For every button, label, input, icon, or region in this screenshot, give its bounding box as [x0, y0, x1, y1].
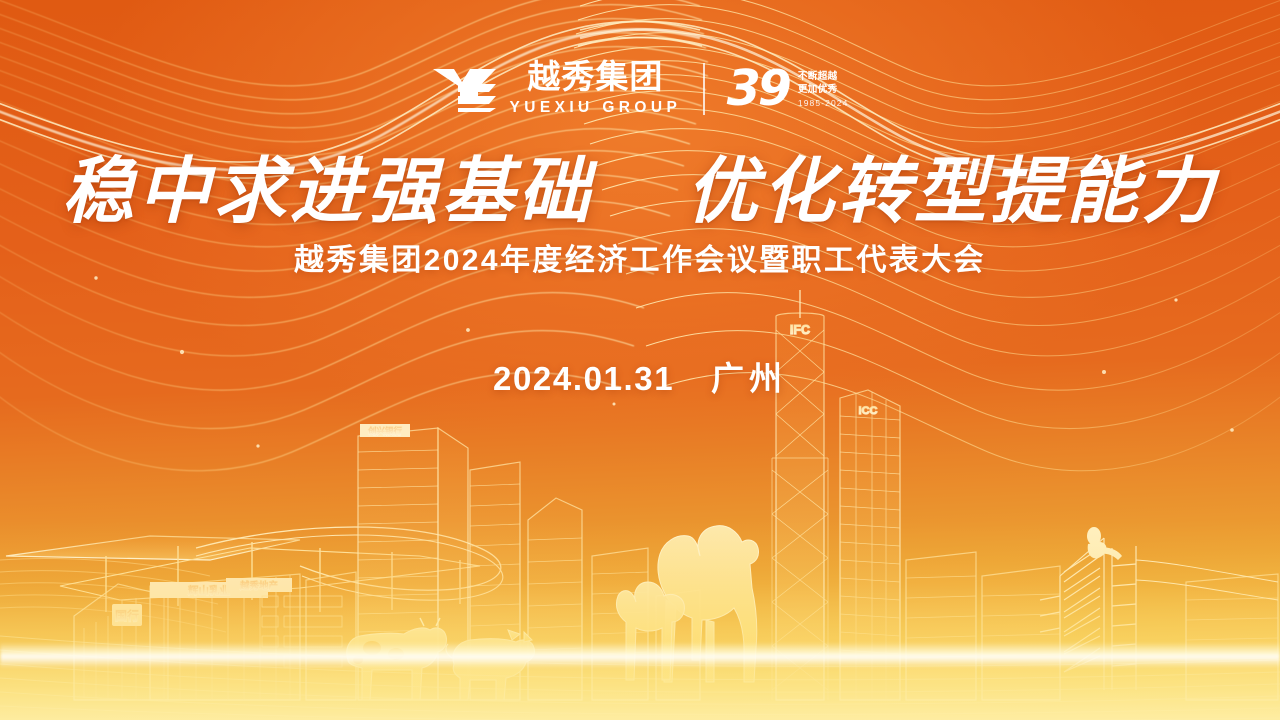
bank-building-sign-text: 国行: [115, 608, 139, 623]
pig-illustration: [446, 630, 535, 700]
logo-divider: [703, 63, 705, 115]
headline-part-2: 优化转型提能力: [686, 148, 1218, 233]
headline-part-1: 稳中求进强基础: [62, 148, 594, 233]
mid-tower-d: [656, 590, 700, 700]
icc-tower-label: ICC: [859, 405, 878, 417]
ifc-tower-label: IFC: [790, 323, 810, 337]
vineyard-trellis: [1040, 538, 1278, 690]
chong-hing-bank-sign-text: 创兴银行: [367, 426, 403, 436]
bottom-glow-floor: [0, 520, 1280, 720]
anniversary-slogan-line1: 不断超越: [798, 72, 849, 83]
chong-hing-bank-tower: 创兴银行: [358, 424, 468, 700]
anniversary-slogan: 不断超越 更加优秀 1985-2024: [798, 69, 849, 109]
right-block-b: [982, 566, 1060, 700]
anniversary-badge: 39 不断超越 更加优秀 1985-2024: [727, 64, 849, 113]
event-subtitle: 越秀集团2024年度经济工作会议暨职工代表大会: [0, 243, 1280, 279]
trellis-worker-figure: [1087, 527, 1122, 560]
horizon-light-beam: [0, 642, 1280, 668]
huishan-dairy-block: 辉山乳业: [150, 574, 300, 700]
event-date-location: 2024.01.31 广州: [0, 352, 1280, 400]
mid-tower-b: [528, 498, 582, 700]
yuexiu-property-sign-text: 越秀地产: [239, 580, 279, 592]
camel-adult-illustration: [658, 526, 759, 682]
yuexiu-ye-monogram-icon: [432, 66, 498, 112]
huishan-dairy-sign-text: 辉山乳业: [188, 584, 230, 597]
page-title: 稳中求进强基础 优化转型提能力: [0, 152, 1280, 230]
guangzhou-icc-tower: ICC: [840, 390, 900, 700]
highway-interchange: [6, 527, 503, 612]
yuexiu-property-block: 越秀地产: [226, 572, 356, 700]
cow-illustration: [347, 618, 447, 700]
right-block-a: [906, 552, 976, 700]
mid-tower-a: [470, 462, 520, 700]
brand-name-cn: 越秀集团: [527, 60, 663, 95]
event-date: 2024.01.31: [493, 360, 674, 397]
mid-tower-c: [592, 548, 648, 700]
camel-calf-illustration: [616, 582, 684, 680]
anniversary-years: 1985-2024: [798, 99, 849, 109]
bank-building-block: 国行: [74, 584, 168, 700]
right-block-c: [1186, 574, 1278, 700]
conference-banner: 国行 辉山乳业: [0, 0, 1280, 720]
brand-wordmark: 越秀集团 YUEXIU GROUP: [510, 60, 682, 117]
brand-logo-band: 越秀集团 YUEXIU GROUP 39 不断超越 更加优秀 1985-2024: [0, 60, 1280, 117]
event-city: 广州: [711, 360, 787, 397]
brand-name-en: YUEXIU GROUP: [510, 98, 682, 117]
anniversary-slogan-line2: 更加优秀: [798, 85, 849, 96]
anniversary-number: 39: [727, 64, 789, 113]
